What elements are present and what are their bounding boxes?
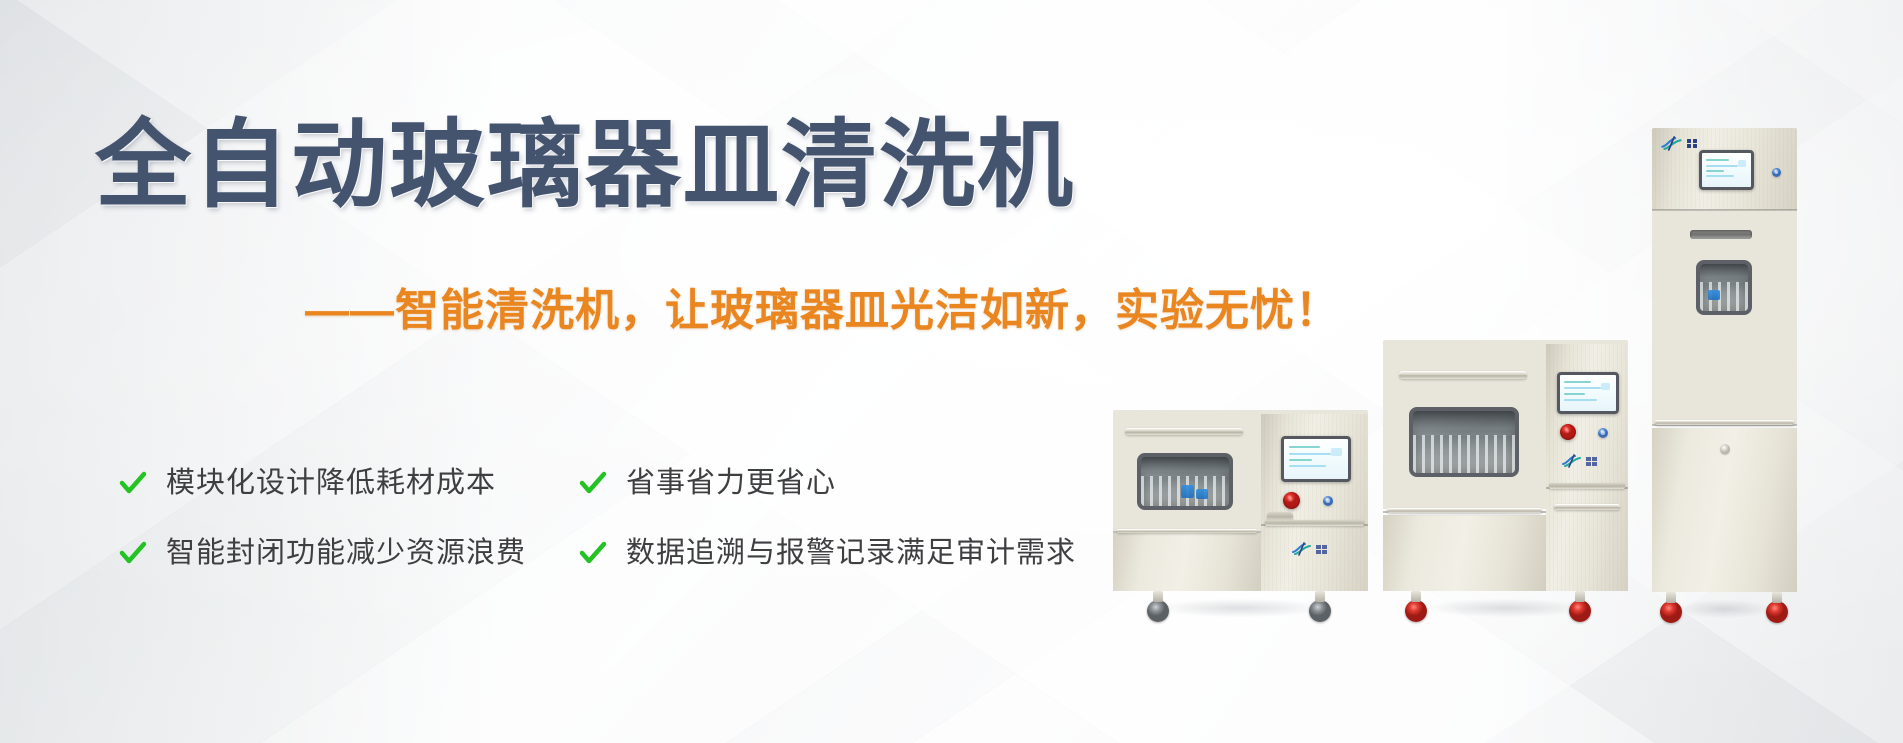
caster-wheel	[1569, 600, 1591, 622]
emergency-stop-button[interactable]	[1283, 492, 1300, 509]
brand-swoosh-icon	[1661, 136, 1683, 151]
wash-chamber-door	[1383, 349, 1546, 509]
chamber-viewing-window	[1409, 407, 1519, 477]
door-latch-knob[interactable]	[1720, 444, 1730, 454]
control-tower	[1261, 414, 1368, 591]
emergency-stop-button[interactable]	[1560, 424, 1576, 440]
brand-grid-icon	[1687, 139, 1697, 149]
promo-banner: 全自动玻璃器皿清洗机 ——智能清洗机，让玻璃器皿光洁如新，实验无忧！ 模块化设计…	[0, 0, 1903, 743]
chamber-viewing-window	[1137, 453, 1233, 510]
lower-door-handle	[1117, 529, 1257, 533]
caster-wheel	[1309, 600, 1331, 622]
caster-wheel	[1660, 601, 1682, 623]
control-section	[1652, 128, 1797, 210]
dispenser-door-handle	[1554, 504, 1620, 510]
brand-wordmark	[1586, 457, 1597, 466]
power-indicator-light	[1598, 428, 1608, 438]
wash-chamber-door	[1652, 211, 1797, 424]
brand-wordmark	[1316, 545, 1327, 554]
wash-chamber-door	[1113, 419, 1261, 531]
brand-logo	[1562, 454, 1597, 468]
control-touchscreen[interactable]	[1281, 436, 1351, 482]
brand-logo	[1292, 542, 1327, 556]
product-image-freestanding-glassware-washer	[1383, 340, 1628, 605]
control-touchscreen[interactable]	[1699, 150, 1754, 190]
lower-door-handle	[1387, 508, 1542, 513]
control-tower	[1546, 344, 1628, 591]
caster-wheel	[1147, 600, 1169, 622]
product-image-tall-column-glassware-washer	[1652, 128, 1797, 606]
door-handle	[1125, 428, 1243, 435]
caster-wheel	[1405, 600, 1427, 622]
brand-swoosh-icon	[1292, 542, 1312, 556]
lower-service-door	[1113, 533, 1261, 591]
brand-logo	[1661, 136, 1697, 151]
power-indicator-light	[1772, 168, 1781, 177]
chamber-door-handle	[1655, 420, 1794, 425]
lower-service-door	[1652, 428, 1797, 592]
caster-wheel	[1766, 601, 1788, 623]
product-image-undercounter-glassware-washer	[1113, 410, 1368, 605]
chamber-viewing-window	[1696, 260, 1752, 315]
brand-swoosh-icon	[1562, 454, 1582, 468]
lower-service-door	[1383, 515, 1546, 591]
power-indicator-light	[1323, 496, 1333, 506]
vent-slot	[1690, 230, 1752, 239]
product-image-group	[0, 0, 1903, 743]
door-handle	[1399, 371, 1527, 379]
control-touchscreen[interactable]	[1557, 372, 1619, 414]
